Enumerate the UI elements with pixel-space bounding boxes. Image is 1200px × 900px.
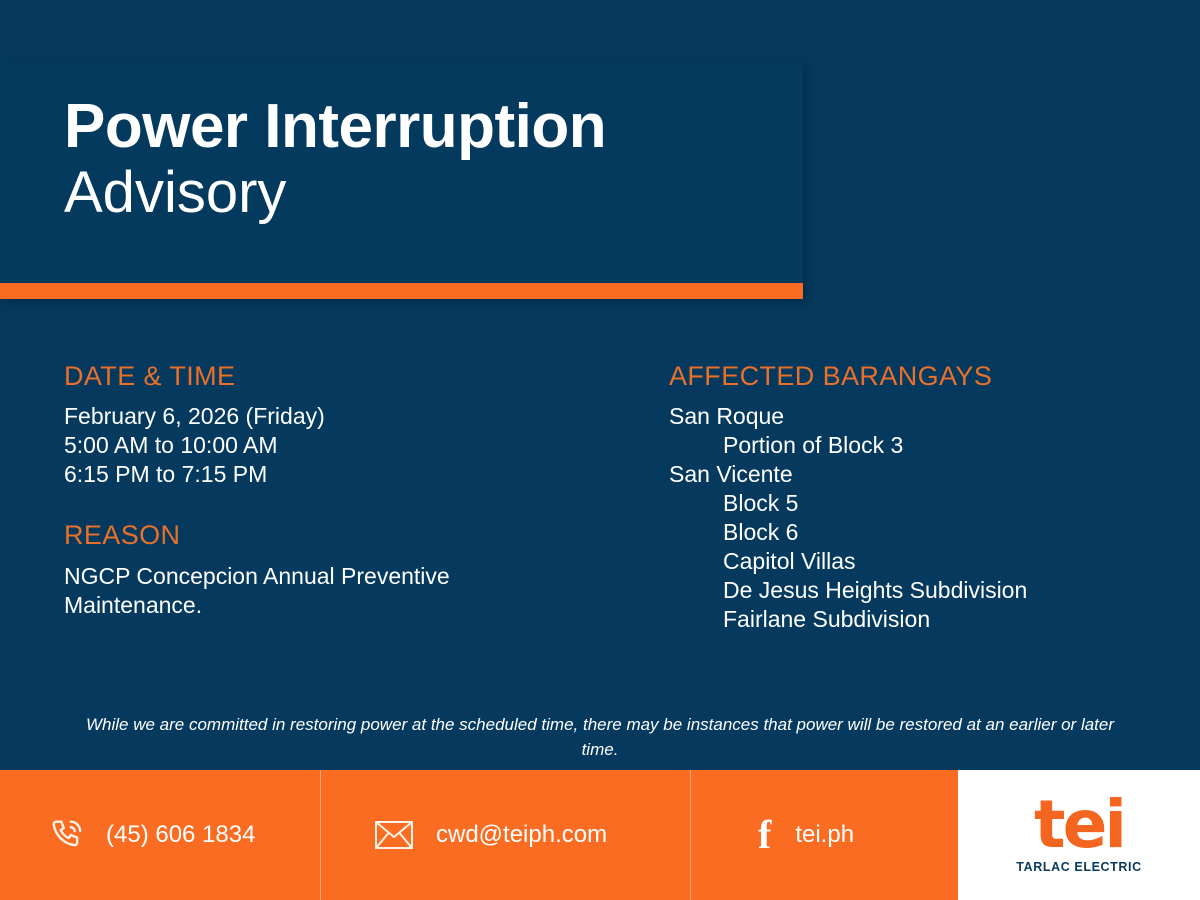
reason-text: NGCP Concepcion Annual Preventive Mainte… [64,562,534,620]
affected-barangays-list: San Roque Portion of Block 3 San Vicente… [669,402,1169,634]
header-accent-bar [0,283,803,299]
envelope-icon [374,819,414,851]
footer-email[interactable]: cwd@teiph.com [320,770,690,900]
list-item: Portion of Block 3 [669,431,1169,460]
reason-heading: REASON [64,519,624,551]
page-title: Power Interruption [64,96,783,158]
company-logo: tei TARLAC ELECTRIC [958,770,1200,900]
affected-barangays-heading: AFFECTED BARANGAYS [669,360,1169,392]
list-item: Fairlane Subdivision [669,605,1169,634]
footer-phone[interactable]: (45) 606 1834 [0,770,320,900]
time-line-1: 5:00 AM to 10:00 AM [64,431,624,460]
footer-contact-bar: (45) 606 1834 cwd@teiph.com f tei.ph [0,770,958,900]
left-column: DATE & TIME February 6, 2026 (Friday) 5:… [64,360,624,620]
list-item: Capitol Villas [669,547,1169,576]
date-time-heading: DATE & TIME [64,360,624,392]
phone-number: (45) 606 1834 [106,821,255,849]
list-item: Block 5 [669,489,1169,518]
logo-wordmark: tei [1034,796,1124,854]
facebook-handle: tei.ph [795,821,854,849]
disclaimer-text: While we are committed in restoring powe… [80,712,1120,762]
list-item: De Jesus Heights Subdivision [669,576,1169,605]
logo-tagline: TARLAC ELECTRIC [1016,860,1141,874]
page-subtitle: Advisory [64,158,783,229]
email-address: cwd@teiph.com [436,821,607,849]
header-panel: Power Interruption Advisory [0,62,803,299]
right-column: AFFECTED BARANGAYS San Roque Portion of … [669,360,1169,634]
footer: (45) 606 1834 cwd@teiph.com f tei.ph tei… [0,770,1200,900]
list-item: Block 6 [669,518,1169,547]
phone-icon [48,816,86,854]
date-time-list: February 6, 2026 (Friday) 5:00 AM to 10:… [64,402,624,489]
list-item: San Vicente [669,460,1169,489]
facebook-icon: f [758,815,771,855]
header-title-group: Power Interruption Advisory [64,96,783,229]
list-item: San Roque [669,402,1169,431]
date-line: February 6, 2026 (Friday) [64,402,624,431]
footer-social[interactable]: f tei.ph [690,770,958,900]
time-line-2: 6:15 PM to 7:15 PM [64,460,624,489]
